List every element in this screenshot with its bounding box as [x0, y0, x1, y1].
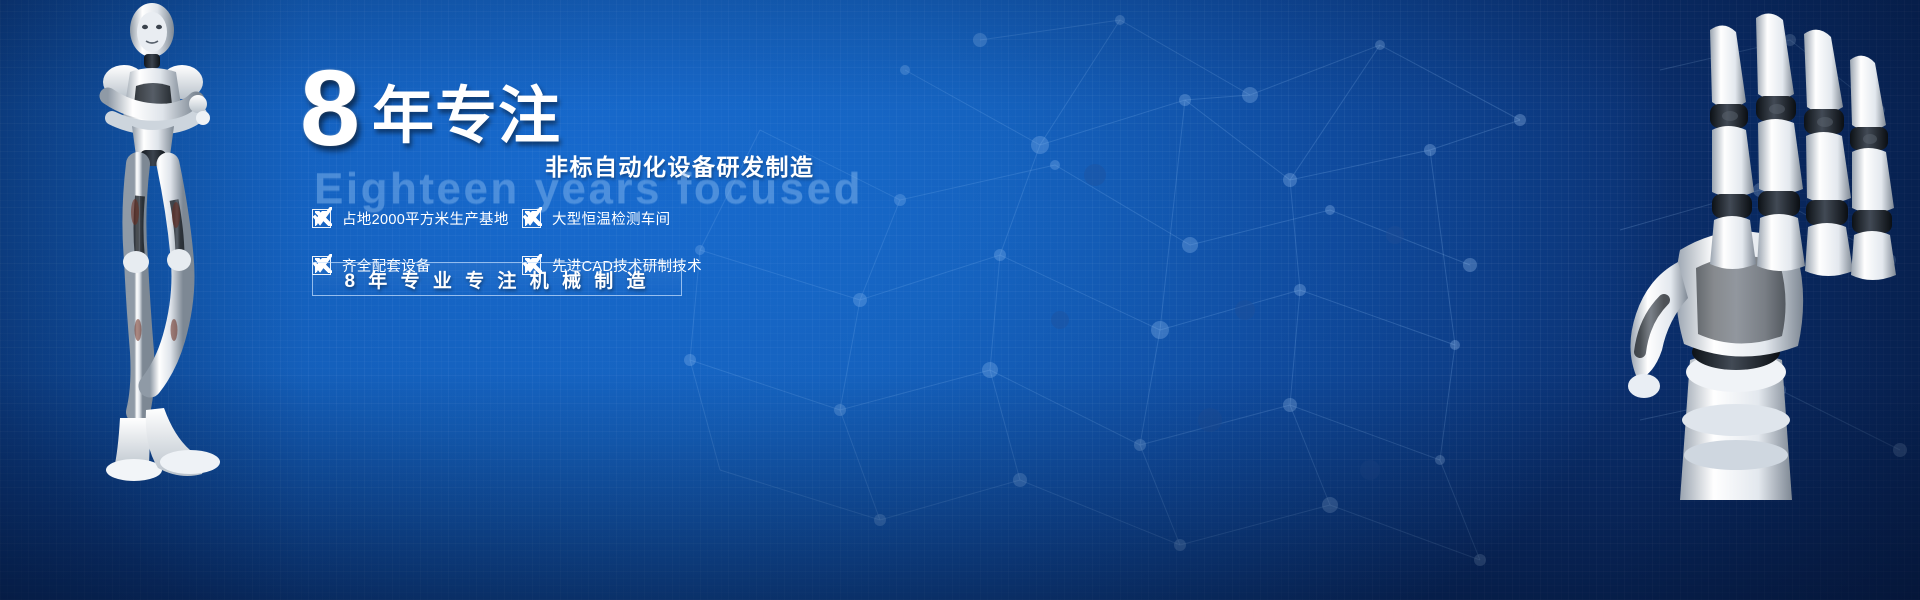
cta-banner[interactable]: 8 年 专 业 专 注 机 械 制 造: [312, 262, 682, 296]
headline-number: 8: [300, 54, 358, 162]
headline-english-ghost: Eighteen years focused: [314, 164, 863, 214]
check-icon: [522, 209, 541, 228]
feature-item: 占地2000平方米生产基地: [312, 208, 522, 229]
humanoid-robot-figure: [78, 0, 258, 485]
feature-label: 占地2000平方米生产基地: [342, 208, 509, 229]
feature-label: 大型恒温检测车间: [552, 208, 670, 229]
headline-chinese: 年专注: [372, 86, 561, 148]
check-icon: [312, 209, 331, 228]
headline-group: 8 年专注 非标自动化设备研发制造 Eighteen years focused: [300, 60, 1060, 146]
banner-content: 8 年专注 非标自动化设备研发制造 Eighteen years focused…: [300, 60, 1060, 360]
robotic-hand-figure: [1560, 0, 1920, 500]
feature-item: 大型恒温检测车间: [522, 208, 732, 229]
hero-banner: 8 年专注 非标自动化设备研发制造 Eighteen years focused…: [0, 0, 1920, 600]
cta-label: 8 年 专 业 专 注 机 械 制 造: [344, 266, 649, 293]
